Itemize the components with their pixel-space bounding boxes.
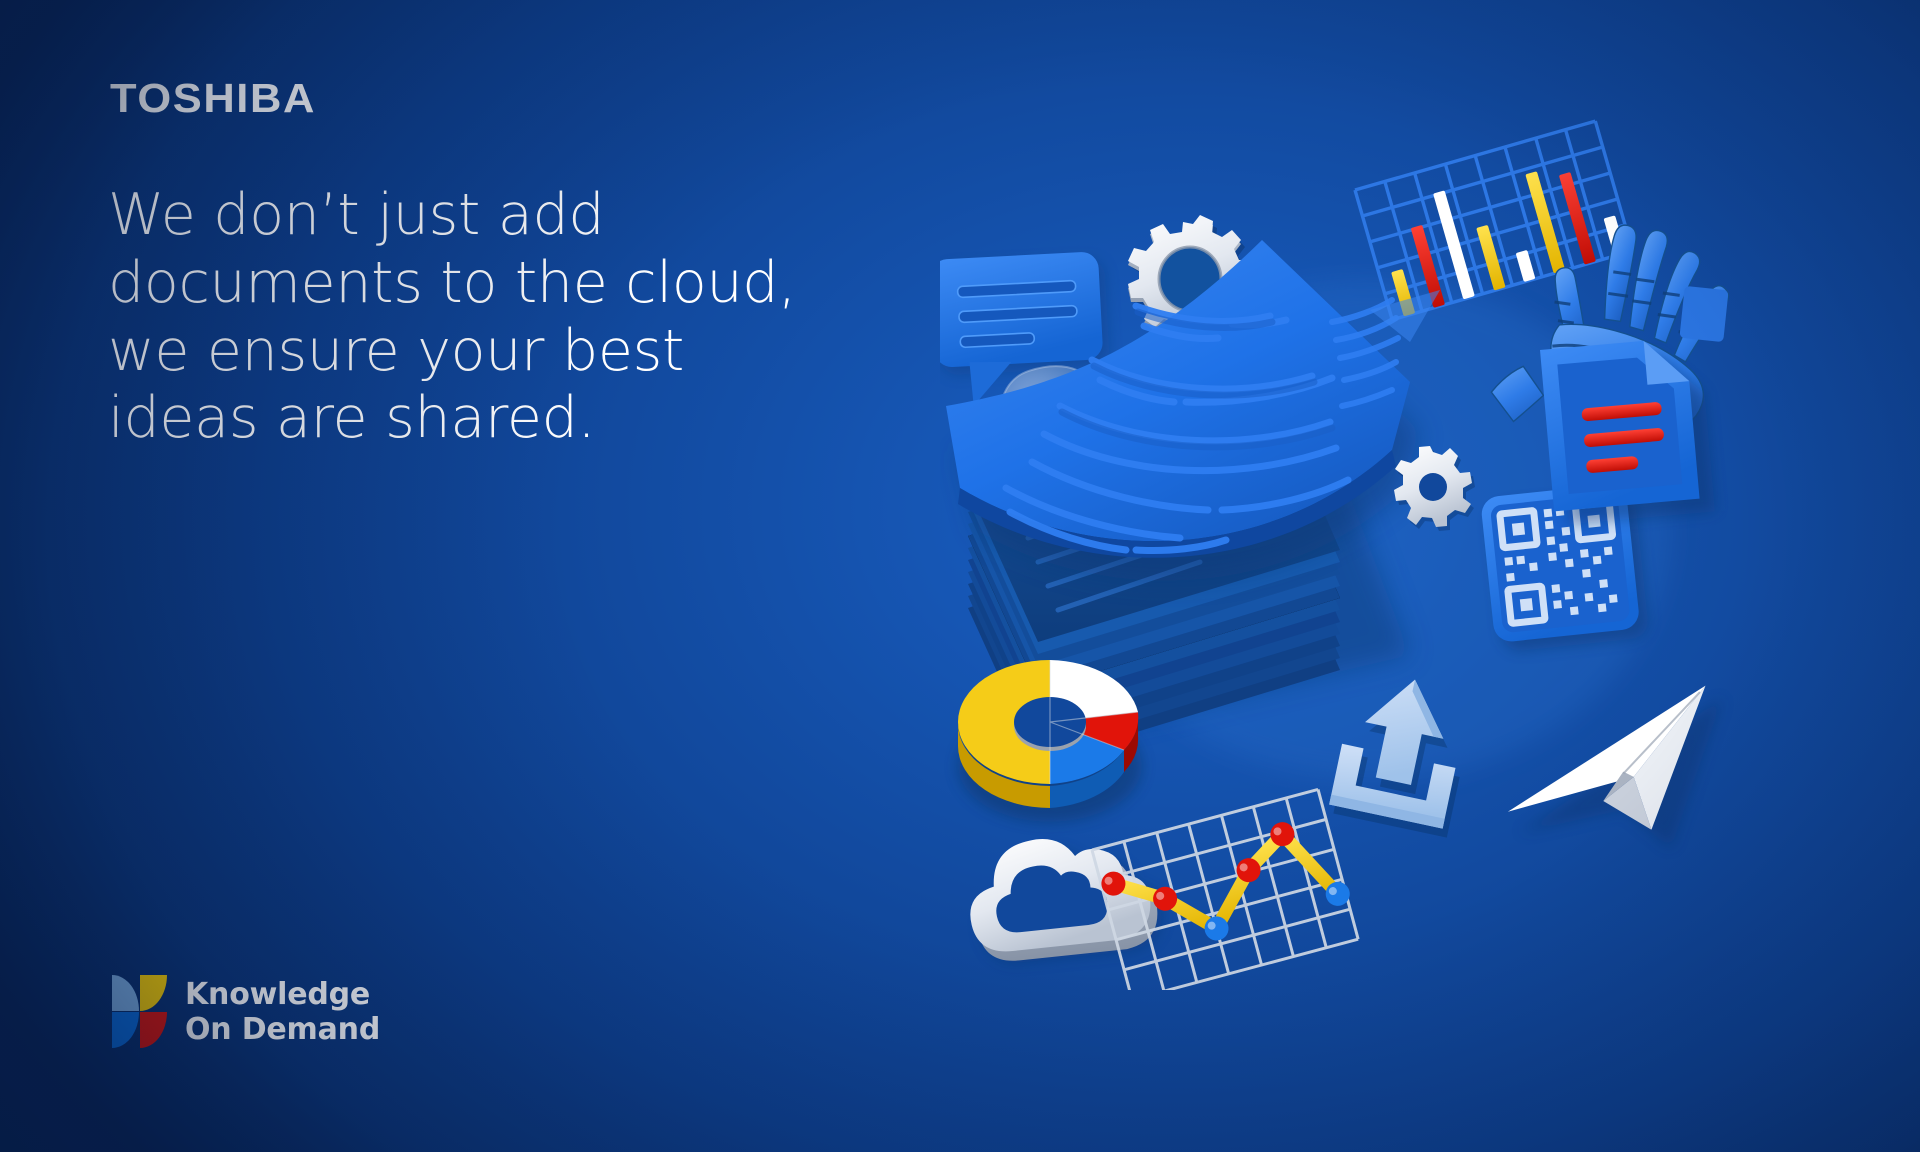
toshiba-logo: TOSHIBA bbox=[110, 78, 316, 119]
knowledge-on-demand-logo: Knowledge On Demand bbox=[112, 975, 380, 1049]
kod-mark-icon bbox=[112, 975, 168, 1049]
kod-line-2: On Demand bbox=[185, 1012, 380, 1047]
kod-quadrant-top-left bbox=[112, 975, 139, 1011]
document-file-icon bbox=[1540, 336, 1715, 525]
headline: We don’t just add documents to the cloud… bbox=[108, 182, 768, 453]
kod-quadrant-bottom-right bbox=[140, 1012, 167, 1048]
shard-right bbox=[1679, 286, 1728, 342]
headline-line-2: documents to the cloud, bbox=[108, 250, 768, 318]
kod-line-1: Knowledge bbox=[185, 977, 380, 1012]
cloud-icon bbox=[963, 827, 1165, 967]
hero-illustration bbox=[940, 110, 1860, 990]
headline-line-4: ideas are shared. bbox=[108, 385, 768, 453]
headline-line-1: We don’t just add bbox=[108, 182, 768, 250]
banner-canvas: TOSHIBA We don’t just add documents to t… bbox=[0, 0, 1920, 1152]
kod-quadrant-bottom-left bbox=[112, 1012, 139, 1048]
headline-line-3: we ensure your best bbox=[108, 318, 768, 386]
kod-quadrant-top-right bbox=[140, 975, 167, 1011]
donut-chart-icon bbox=[958, 660, 1142, 822]
line-graph-icon bbox=[1092, 788, 1362, 990]
bar-chart-icon bbox=[1355, 121, 1633, 320]
kod-wordmark: Knowledge On Demand bbox=[185, 977, 380, 1048]
